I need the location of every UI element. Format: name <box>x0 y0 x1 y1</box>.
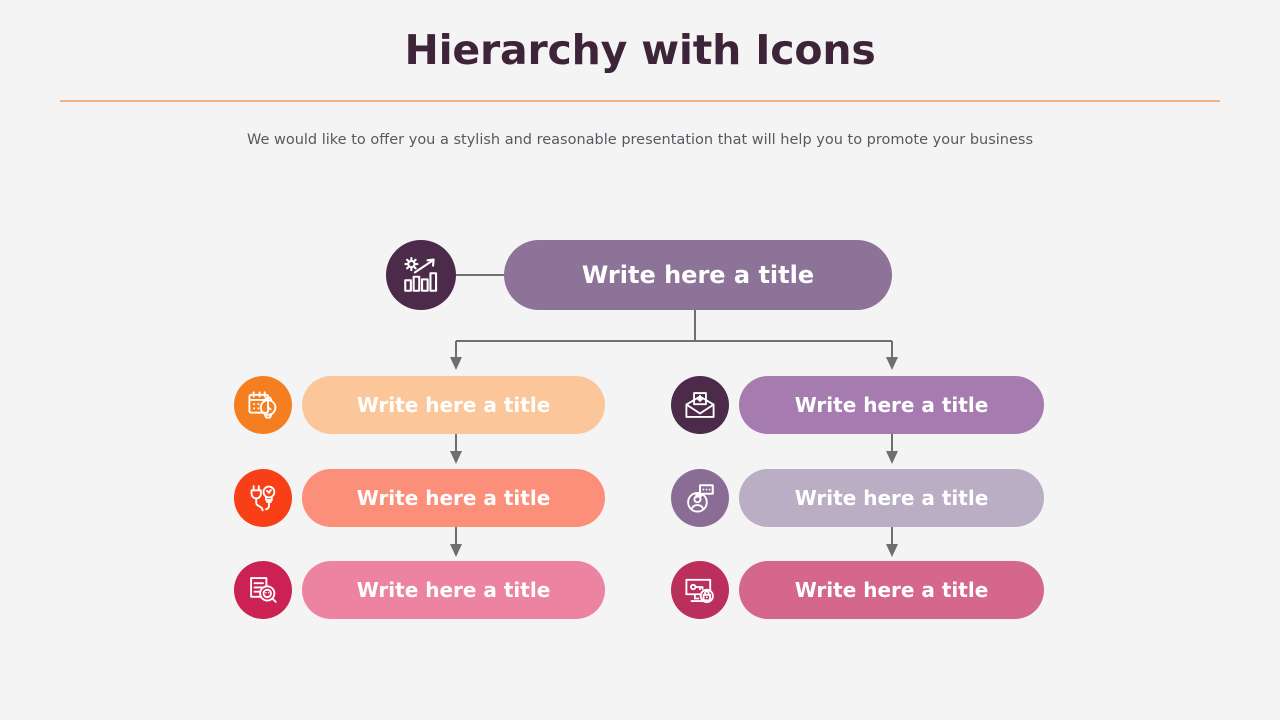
node-left-2[interactable]: Write here a title <box>234 469 605 527</box>
arrowhead-right-top <box>886 357 898 370</box>
plug-lightbulb-icon <box>234 469 292 527</box>
user-chat-icon <box>671 469 729 527</box>
envelope-inbox-icon <box>671 376 729 434</box>
node-left-2-label[interactable]: Write here a title <box>302 469 605 527</box>
connector-root-to-pill <box>456 274 504 276</box>
node-right-1-label[interactable]: Write here a title <box>739 376 1044 434</box>
node-right-3-label[interactable]: Write here a title <box>739 561 1044 619</box>
slide-canvas: Hierarchy with Icons We would like to of… <box>0 0 1280 720</box>
node-left-1[interactable]: Write here a title <box>234 376 605 434</box>
node-left-3[interactable]: Write here a title <box>234 561 605 619</box>
node-right-3[interactable]: Write here a title <box>671 561 1044 619</box>
arrowhead-left-r2 <box>450 451 462 464</box>
icon-pill-gap <box>292 589 302 591</box>
arrowhead-right-r2 <box>886 451 898 464</box>
node-left-1-label[interactable]: Write here a title <box>302 376 605 434</box>
icon-pill-gap <box>729 404 739 406</box>
monitor-key-lock-icon <box>671 561 729 619</box>
icon-pill-gap <box>729 497 739 499</box>
arrowhead-left-top <box>450 357 462 370</box>
node-root[interactable]: Write here a title <box>386 240 892 310</box>
node-left-3-label[interactable]: Write here a title <box>302 561 605 619</box>
document-search-icon <box>234 561 292 619</box>
arrowhead-right-r3 <box>886 544 898 557</box>
icon-pill-gap <box>292 404 302 406</box>
icon-pill-gap <box>729 589 739 591</box>
node-root-label[interactable]: Write here a title <box>504 240 892 310</box>
arrowhead-left-r3 <box>450 544 462 557</box>
node-right-2[interactable]: Write here a title <box>671 469 1044 527</box>
gear-growth-chart-icon <box>386 240 456 310</box>
node-right-2-label[interactable]: Write here a title <box>739 469 1044 527</box>
calendar-clock-icon <box>234 376 292 434</box>
tree-connectors <box>0 0 1280 720</box>
node-right-1[interactable]: Write here a title <box>671 376 1044 434</box>
icon-pill-gap <box>292 497 302 499</box>
